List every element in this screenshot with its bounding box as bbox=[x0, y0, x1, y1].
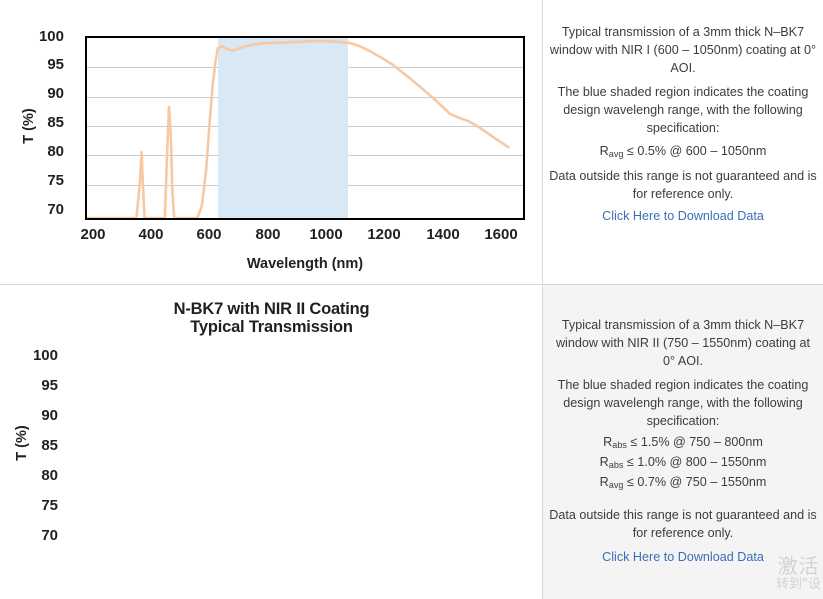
spec-line: Ravg ≤ 0.7% @ 750 – 1550nm bbox=[549, 473, 817, 493]
plot-wrapper-nir-ii: T (%) 100 95 90 85 80 75 70 bbox=[0, 285, 543, 599]
info-panel-nir-ii: Typical transmission of a 3mm thick N–BK… bbox=[543, 285, 823, 599]
x-tick-1400: 1400 bbox=[418, 226, 468, 243]
y-tick-85: 85 bbox=[28, 114, 64, 131]
x-tick-1000: 1000 bbox=[301, 226, 351, 243]
download-data-link-nir-ii[interactable]: Click Here to Download Data bbox=[543, 549, 823, 567]
spec-line: Ravg ≤ 0.5% @ 600 – 1050nm bbox=[549, 142, 817, 162]
y-tick-90: 90 bbox=[22, 407, 58, 424]
spec-subscript: avg bbox=[609, 480, 624, 490]
y-tick-70: 70 bbox=[28, 201, 64, 218]
panel-description-nir-i: Typical transmission of a 3mm thick N–BK… bbox=[543, 24, 823, 78]
spec-line: Rabs ≤ 1.5% @ 750 – 800nm bbox=[549, 433, 817, 453]
x-tick-200: 200 bbox=[68, 226, 118, 243]
download-data-link-nir-i[interactable]: Click Here to Download Data bbox=[543, 208, 823, 226]
x-tick-1600: 1600 bbox=[476, 226, 526, 243]
chart-row-nir-ii: N-BK7 with NIR II Coating Typical Transm… bbox=[0, 284, 823, 599]
chart-row-nir-i: Typical Transmission T (%) 100 95 90 85 … bbox=[0, 0, 823, 284]
spec-text: ≤ 0.7% @ 750 – 1550nm bbox=[623, 475, 766, 489]
spec-symbol: R bbox=[600, 455, 609, 469]
y-tick-100: 100 bbox=[28, 28, 64, 45]
transmission-curve-nir-i bbox=[87, 38, 523, 218]
x-axis-title-nir-i: Wavelength (nm) bbox=[85, 256, 525, 272]
y-tick-75: 75 bbox=[28, 172, 64, 189]
y-tick-90: 90 bbox=[28, 85, 64, 102]
spec-text: ≤ 0.5% @ 600 – 1050nm bbox=[623, 144, 766, 158]
y-tick-95: 95 bbox=[28, 56, 64, 73]
spec-text: ≤ 1.0% @ 800 – 1550nm bbox=[623, 455, 766, 469]
x-tick-600: 600 bbox=[184, 226, 234, 243]
panel-disclaimer-nir-ii: Data outside this range is not guarantee… bbox=[543, 507, 823, 543]
y-tick-75: 75 bbox=[22, 497, 58, 514]
y-tick-70: 70 bbox=[22, 527, 58, 544]
chart-cell-nir-ii: N-BK7 with NIR II Coating Typical Transm… bbox=[0, 285, 543, 599]
y-tick-95: 95 bbox=[22, 377, 58, 394]
spec-symbol: R bbox=[600, 475, 609, 489]
page-root: Typical Transmission T (%) 100 95 90 85 … bbox=[0, 0, 823, 599]
spec-line: Rabs ≤ 1.0% @ 800 – 1550nm bbox=[549, 453, 817, 473]
x-tick-400: 400 bbox=[126, 226, 176, 243]
panel-shaded-note-nir-i: The blue shaded region indicates the coa… bbox=[543, 84, 823, 138]
info-panel-nir-i: Typical transmission of a 3mm thick N–BK… bbox=[543, 0, 823, 284]
y-tick-80: 80 bbox=[28, 143, 64, 160]
spec-text: ≤ 1.5% @ 750 – 800nm bbox=[627, 435, 763, 449]
x-tick-1200: 1200 bbox=[359, 226, 409, 243]
panel-spec-list-nir-ii: Rabs ≤ 1.5% @ 750 – 800nm Rabs ≤ 1.0% @ … bbox=[543, 433, 823, 492]
spec-subscript: avg bbox=[609, 149, 624, 159]
spec-subscript: abs bbox=[612, 440, 627, 450]
chart-cell-nir-i: Typical Transmission T (%) 100 95 90 85 … bbox=[0, 0, 543, 284]
y-tick-100: 100 bbox=[22, 347, 58, 364]
plot-wrapper-nir-i: T (%) 100 95 90 85 80 75 70 bbox=[0, 0, 543, 284]
spec-symbol: R bbox=[603, 435, 612, 449]
panel-shaded-note-nir-ii: The blue shaded region indicates the coa… bbox=[543, 377, 823, 431]
x-tick-800: 800 bbox=[243, 226, 293, 243]
plot-area-nir-i bbox=[85, 36, 525, 220]
y-tick-80: 80 bbox=[22, 467, 58, 484]
spec-subscript: abs bbox=[609, 460, 624, 470]
panel-spec-list-nir-i: Ravg ≤ 0.5% @ 600 – 1050nm bbox=[543, 142, 823, 162]
spec-symbol: R bbox=[600, 144, 609, 158]
y-tick-85: 85 bbox=[22, 437, 58, 454]
panel-description-nir-ii: Typical transmission of a 3mm thick N–BK… bbox=[543, 317, 823, 371]
panel-disclaimer-nir-i: Data outside this range is not guarantee… bbox=[543, 168, 823, 204]
